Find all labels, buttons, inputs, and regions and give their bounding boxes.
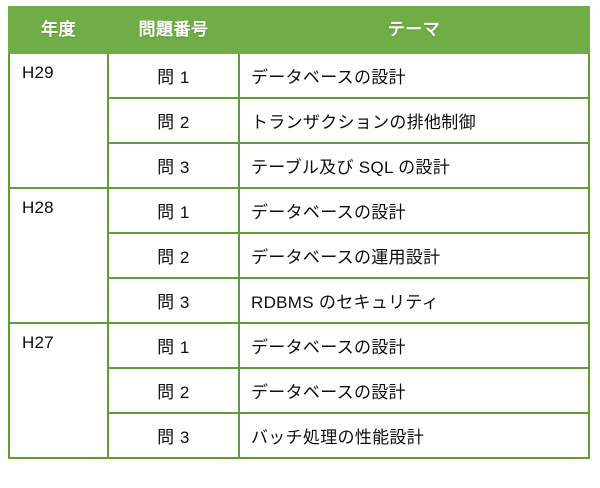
cell-theme: RDBMS のセキュリティ	[239, 278, 589, 323]
cell-theme: データベースの設計	[239, 53, 589, 98]
cell-theme: トランザクションの排他制御	[239, 98, 589, 143]
cell-theme: テーブル及び SQL の設計	[239, 143, 589, 188]
table-header: 年度 問題番号 テーマ	[9, 7, 589, 53]
cell-question-number: 問 2	[108, 98, 239, 143]
cell-question-number: 問 3	[108, 413, 239, 458]
header-row: 年度 問題番号 テーマ	[9, 7, 589, 53]
cell-question-number: 問 2	[108, 233, 239, 278]
table-row: H27 問 1 データベースの設計	[9, 323, 589, 368]
cell-theme: データベースの運用設計	[239, 233, 589, 278]
table-row: H29 問 1 データベースの設計	[9, 53, 589, 98]
cell-year-h27: H27	[9, 323, 108, 458]
cell-question-number: 問 1	[108, 323, 239, 368]
cell-year-h29: H29	[9, 53, 108, 188]
cell-theme: データベースの設計	[239, 188, 589, 233]
table-row: H28 問 1 データベースの設計	[9, 188, 589, 233]
column-header-theme: テーマ	[239, 7, 589, 53]
column-header-year: 年度	[9, 7, 108, 53]
cell-year-h28: H28	[9, 188, 108, 323]
cell-question-number: 問 3	[108, 143, 239, 188]
document-sheet: 年度 問題番号 テーマ H29 問 1 データベースの設計 問 2 トランザクシ…	[0, 0, 600, 488]
cell-theme: バッチ処理の性能設計	[239, 413, 589, 458]
cell-question-number: 問 2	[108, 368, 239, 413]
column-header-question-number: 問題番号	[108, 7, 239, 53]
cell-question-number: 問 1	[108, 188, 239, 233]
cell-question-number: 問 1	[108, 53, 239, 98]
table-body: H29 問 1 データベースの設計 問 2 トランザクションの排他制御 問 3 …	[9, 53, 589, 458]
cell-theme: データベースの設計	[239, 323, 589, 368]
exam-theme-table: 年度 問題番号 テーマ H29 問 1 データベースの設計 問 2 トランザクシ…	[8, 6, 590, 459]
cell-question-number: 問 3	[108, 278, 239, 323]
cell-theme: データベースの設計	[239, 368, 589, 413]
